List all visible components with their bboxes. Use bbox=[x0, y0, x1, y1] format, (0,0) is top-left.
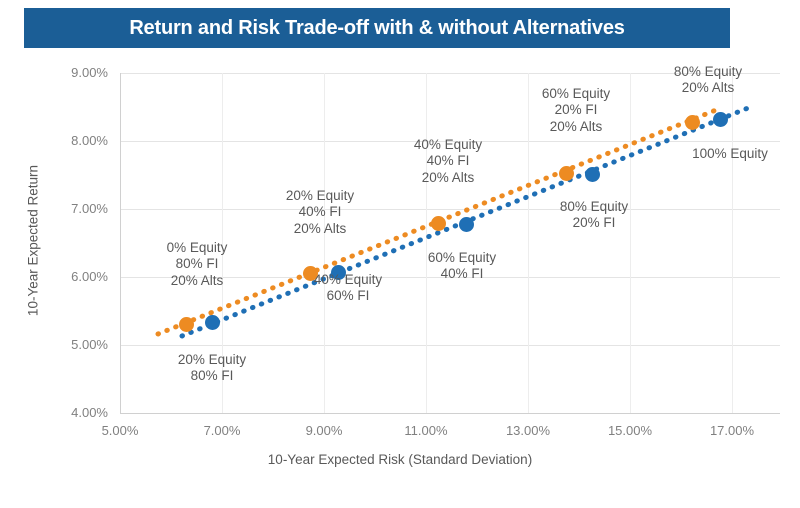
x-tick-label: 15.00% bbox=[595, 423, 665, 438]
y-tick-label: 6.00% bbox=[46, 269, 108, 284]
point-label-line: 20% Alts bbox=[260, 221, 380, 237]
point-label-blue-4: 80% Equity 20% FI bbox=[534, 199, 654, 232]
point-label-line: 60% Equity bbox=[402, 250, 522, 266]
data-point-orange[interactable] bbox=[559, 166, 574, 181]
point-label-orange-1: 0% Equity 80% FI 20% Alts bbox=[137, 240, 257, 289]
point-label-line: 40% Equity bbox=[288, 272, 408, 288]
gridline-horizontal bbox=[120, 345, 780, 346]
point-label-line: 20% Equity bbox=[260, 188, 380, 204]
point-label-line: 80% FI bbox=[152, 368, 272, 384]
gridline-horizontal bbox=[120, 209, 780, 210]
point-label-line: 20% Equity bbox=[152, 352, 272, 368]
point-label-line: 80% Equity bbox=[648, 64, 768, 80]
point-label-blue-2: 40% Equity 60% FI bbox=[288, 272, 408, 305]
y-axis-title: 10-Year Expected Return bbox=[26, 146, 41, 336]
x-axis-line bbox=[120, 413, 780, 414]
point-label-orange-4: 60% Equity 20% FI 20% Alts bbox=[516, 86, 636, 135]
point-label-line: 100% Equity bbox=[670, 146, 790, 162]
x-tick-label: 17.00% bbox=[697, 423, 767, 438]
point-label-orange-3: 40% Equity 40% FI 20% Alts bbox=[388, 137, 508, 186]
data-point-blue[interactable] bbox=[713, 112, 728, 127]
data-point-orange[interactable] bbox=[685, 115, 700, 130]
data-point-blue[interactable] bbox=[459, 217, 474, 232]
point-label-orange-2: 20% Equity 40% FI 20% Alts bbox=[260, 188, 380, 237]
y-tick-label: 9.00% bbox=[46, 65, 108, 80]
point-label-line: 20% FI bbox=[534, 215, 654, 231]
chart-canvas: 10-Year Expected Return 9.00% 8.00% 7.00… bbox=[0, 0, 800, 508]
x-tick-label: 5.00% bbox=[85, 423, 155, 438]
point-label-line: 20% FI bbox=[516, 102, 636, 118]
y-axis-line bbox=[120, 73, 121, 414]
point-label-line: 20% Alts bbox=[516, 119, 636, 135]
x-axis-title: 10-Year Expected Risk (Standard Deviatio… bbox=[190, 452, 610, 467]
gridline-vertical bbox=[732, 73, 733, 413]
point-label-line: 60% FI bbox=[288, 288, 408, 304]
point-label-line: 40% FI bbox=[402, 266, 522, 282]
data-point-blue[interactable] bbox=[205, 315, 220, 330]
point-label-blue-1: 20% Equity 80% FI bbox=[152, 352, 272, 385]
y-tick-label: 4.00% bbox=[46, 405, 108, 420]
data-point-blue[interactable] bbox=[585, 167, 600, 182]
point-label-line: 20% Alts bbox=[648, 80, 768, 96]
y-tick-label: 5.00% bbox=[46, 337, 108, 352]
data-point-orange[interactable] bbox=[179, 317, 194, 332]
point-label-orange-5: 80% Equity 20% Alts bbox=[648, 64, 768, 97]
x-tick-label: 9.00% bbox=[289, 423, 359, 438]
point-label-line: 40% FI bbox=[388, 153, 508, 169]
point-label-line: 80% FI bbox=[137, 256, 257, 272]
gridline-vertical bbox=[426, 73, 427, 413]
x-tick-label: 13.00% bbox=[493, 423, 563, 438]
point-label-line: 20% Alts bbox=[388, 170, 508, 186]
point-label-blue-3: 60% Equity 40% FI bbox=[402, 250, 522, 283]
point-label-line: 80% Equity bbox=[534, 199, 654, 215]
data-point-orange[interactable] bbox=[431, 216, 446, 231]
y-tick-label: 8.00% bbox=[46, 133, 108, 148]
x-tick-label: 11.00% bbox=[391, 423, 461, 438]
point-label-line: 0% Equity bbox=[137, 240, 257, 256]
point-label-line: 40% Equity bbox=[388, 137, 508, 153]
x-tick-label: 7.00% bbox=[187, 423, 257, 438]
gridline-vertical bbox=[324, 73, 325, 413]
point-label-blue-5: 100% Equity bbox=[670, 146, 790, 162]
y-tick-label: 7.00% bbox=[46, 201, 108, 216]
point-label-line: 60% Equity bbox=[516, 86, 636, 102]
point-label-line: 40% FI bbox=[260, 204, 380, 220]
point-label-line: 20% Alts bbox=[137, 273, 257, 289]
